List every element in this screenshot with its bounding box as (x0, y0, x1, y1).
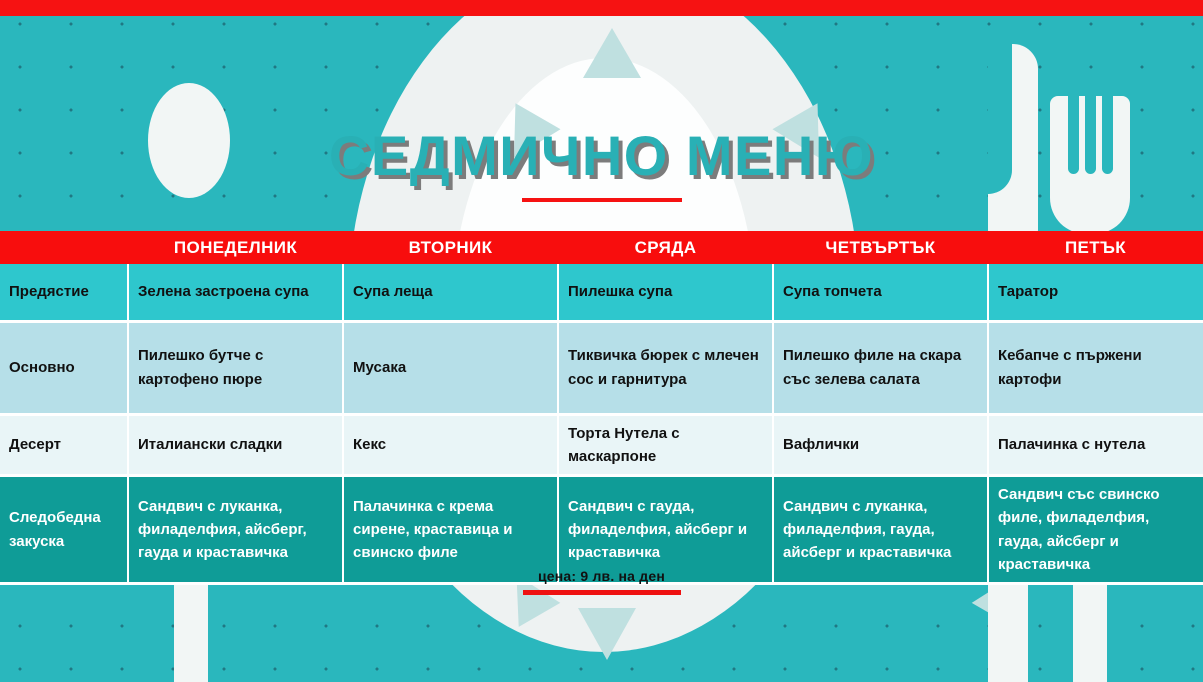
cell-dessert-monday: Италиански сладки (128, 414, 343, 476)
day-header-monday: ПОНЕДЕЛНИК (128, 231, 343, 264)
cell-dessert-thursday: Вафлички (773, 414, 988, 476)
cell-dessert-tuesday: Кекс (343, 414, 558, 476)
table-row: Предястие Зелена застроена супа Супа лещ… (0, 264, 1203, 321)
cell-text: Вафлички (783, 433, 978, 456)
row-label-starter: Предястие (0, 264, 128, 321)
cell-text: Пилешка супа (568, 280, 763, 303)
cell-main-friday: Кебапче с пържени картофи (988, 321, 1203, 414)
cell-text: Италиански сладки (138, 433, 333, 456)
cell-text: Супа топчета (783, 280, 978, 303)
cell-text: Мусака (353, 356, 548, 379)
cell-text: Таратор (998, 280, 1194, 303)
top-red-bar (0, 0, 1203, 16)
cell-text: Торта Нутела с маскарпоне (568, 422, 763, 469)
cell-dessert-friday: Палачинка с нутела (988, 414, 1203, 476)
cell-starter-tuesday: Супа леща (343, 264, 558, 321)
title-underline-rule (522, 198, 682, 202)
price-underline-rule (523, 590, 681, 595)
page-title: СЕДМИЧНО МЕНЮ (329, 128, 874, 184)
table-row: Десерт Италиански сладки Кекс Торта Нуте… (0, 414, 1203, 476)
weekly-menu-poster: СЕДМИЧНО МЕНЮ ПОНЕДЕЛНИК ВТОРНИК СРЯДА Ч… (0, 0, 1203, 682)
cell-text: Зелена застроена супа (138, 280, 333, 303)
cell-main-tuesday: Мусака (343, 321, 558, 414)
cell-main-monday: Пилешко бутче с картофено пюре (128, 321, 343, 414)
day-header-thursday: ЧЕТВЪРТЪК (773, 231, 988, 264)
cell-starter-wednesday: Пилешка супа (558, 264, 773, 321)
cell-starter-monday: Зелена застроена супа (128, 264, 343, 321)
cell-starter-friday: Таратор (988, 264, 1203, 321)
cell-text: Сандвич със свинско филе, филаделфия, га… (998, 483, 1194, 576)
cell-text: Палачинка с крема сирене, краставица и с… (353, 495, 548, 565)
cell-main-thursday: Пилешко филе на скара със зелева салата (773, 321, 988, 414)
row-label-main: Основно (0, 321, 128, 414)
cell-text: Сандвич с луканка, филаделфия, айсберг, … (138, 495, 333, 565)
days-header-spacer (0, 231, 128, 264)
weekly-menu-table: Предястие Зелена застроена супа Супа лещ… (0, 264, 1203, 585)
price-block: цена: 9 лв. на ден (0, 568, 1203, 595)
price-note: цена: 9 лв. на ден (538, 568, 665, 584)
day-header-tuesday: ВТОРНИК (343, 231, 558, 264)
cell-text: Супа леща (353, 280, 548, 303)
cell-text: Кебапче с пържени картофи (998, 344, 1194, 391)
day-header-wednesday: СРЯДА (558, 231, 773, 264)
cell-text: Сандвич с гауда, филаделфия, айсберг и к… (568, 495, 763, 565)
cell-main-wednesday: Тиквичка бюрек с млечен сос и гарнитура (558, 321, 773, 414)
cell-starter-thursday: Супа топчета (773, 264, 988, 321)
cell-text: Палачинка с нутела (998, 433, 1194, 456)
poster-title-block: СЕДМИЧНО МЕНЮ (0, 128, 1203, 202)
cell-text: Сандвич с луканка, филаделфия, гауда, ай… (783, 495, 978, 565)
triangle-decoration-bottom-icon (578, 608, 636, 660)
cell-text: Пилешко филе на скара със зелева салата (783, 344, 978, 391)
days-header-bar: ПОНЕДЕЛНИК ВТОРНИК СРЯДА ЧЕТВЪРТЪК ПЕТЪК (0, 231, 1203, 264)
cell-dessert-wednesday: Торта Нутела с маскарпоне (558, 414, 773, 476)
cell-text: Кекс (353, 433, 548, 456)
day-header-friday: ПЕТЪК (988, 231, 1203, 264)
cell-text: Тиквичка бюрек с млечен сос и гарнитура (568, 344, 763, 391)
triangle-decoration-top-icon (583, 28, 641, 78)
cell-text: Пилешко бутче с картофено пюре (138, 344, 333, 391)
table-row: Основно Пилешко бутче с картофено пюре М… (0, 321, 1203, 414)
row-label-dessert: Десерт (0, 414, 128, 476)
